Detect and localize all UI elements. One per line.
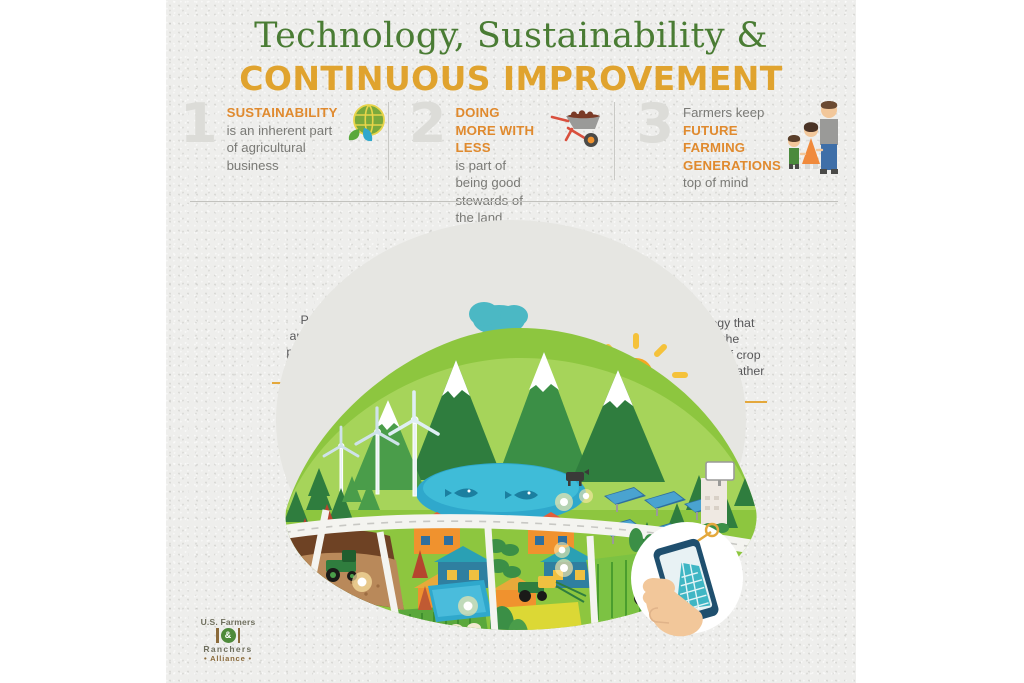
point-number-3: 3: [636, 100, 674, 149]
family-icon: [785, 98, 845, 185]
point-body-1: is an inherent part of agricultural busi…: [227, 123, 333, 173]
point-number-1: 1: [180, 100, 218, 149]
point-highlight-2: DOING MORE WITH LESS: [455, 105, 534, 155]
title-line-2: CONTINUOUS IMPROVEMENT: [166, 59, 856, 99]
divider-2: [614, 102, 615, 180]
point-lead-3: Farmers keep: [683, 105, 764, 120]
logo-ampersand: &: [221, 628, 236, 643]
logo-line-4: • Alliance •: [186, 654, 270, 663]
logo-bar-right: [238, 628, 241, 643]
title-line-1: Technology, Sustainability &: [166, 16, 856, 57]
header-divider: [190, 201, 838, 202]
point-text-2: DOING MORE WITH LESS is part of being go…: [455, 98, 539, 227]
key-points-row: 1 SUSTAINABILITY is an inherent part of …: [180, 98, 845, 190]
key-point-2: 2 DOING MORE WITH LESS is part of being …: [397, 98, 606, 190]
hand-holding-smartphone: [631, 522, 743, 636]
point-highlight-3: FUTURE FARMING GENERATIONS: [683, 123, 781, 173]
lake-with-fish: [416, 463, 586, 523]
farm-landscape-illustration: [166, 210, 856, 670]
logo-bar-left: [216, 628, 219, 643]
key-point-3: 3 Farmers keep FUTURE FARMING GENERATION…: [622, 98, 845, 190]
point-text-1: SUSTAINABILITY is an inherent part of ag…: [227, 98, 338, 174]
wheelbarrow-icon: [544, 98, 606, 155]
point-body-3: top of mind: [683, 175, 748, 190]
page-title: Technology, Sustainability & CONTINUOUS …: [166, 16, 856, 99]
logo-badge: &: [186, 628, 270, 643]
logo-line-1: U.S. Farmers: [186, 617, 270, 627]
divider-1: [388, 102, 389, 180]
point-number-2: 2: [409, 100, 447, 149]
infographic-canvas: Technology, Sustainability & CONTINUOUS …: [0, 0, 1024, 683]
point-highlight-1: SUSTAINABILITY: [227, 105, 338, 120]
usfra-logo: U.S. Farmers & Ranchers • Alliance •: [186, 617, 270, 663]
logo-line-3: Ranchers: [186, 644, 270, 654]
globe-leaf-water-icon: [342, 98, 388, 153]
point-text-3: Farmers keep FUTURE FARMING GENERATIONS …: [683, 98, 781, 192]
key-point-1: 1 SUSTAINABILITY is an inherent part of …: [180, 98, 380, 190]
